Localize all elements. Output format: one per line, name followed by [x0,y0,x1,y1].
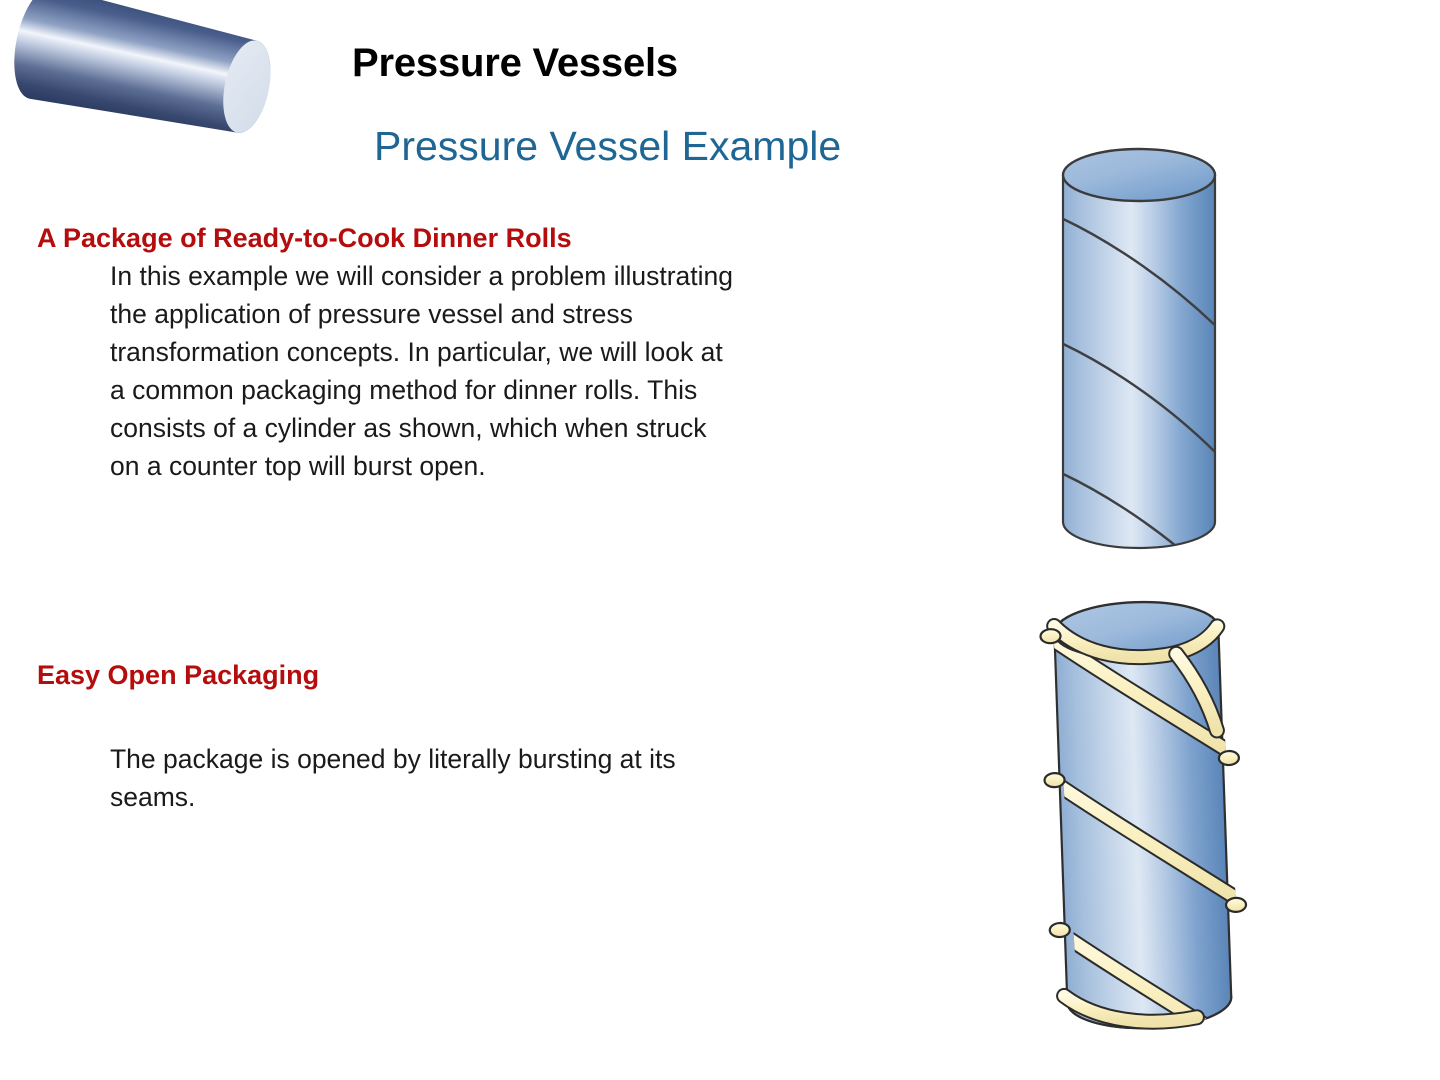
section-body-dinner-rolls: In this example we will consider a probl… [110,257,735,485]
page-subtitle: Pressure Vessel Example [374,124,841,169]
page-title: Pressure Vessels [352,41,678,85]
section-body-easy-open: The package is opened by literally burst… [110,740,690,816]
figure-plain-cylinder [1040,150,1250,560]
figure-banded-cylinder [1030,595,1260,1065]
section-heading-dinner-rolls: A Package of Ready-to-Cook Dinner Rolls [37,222,572,254]
section-heading-easy-open: Easy Open Packaging [37,659,319,691]
slide-canvas: Pressure Vessels Pressure Vessel Example… [0,0,1440,1080]
cylinder-logo-icon [0,2,310,132]
